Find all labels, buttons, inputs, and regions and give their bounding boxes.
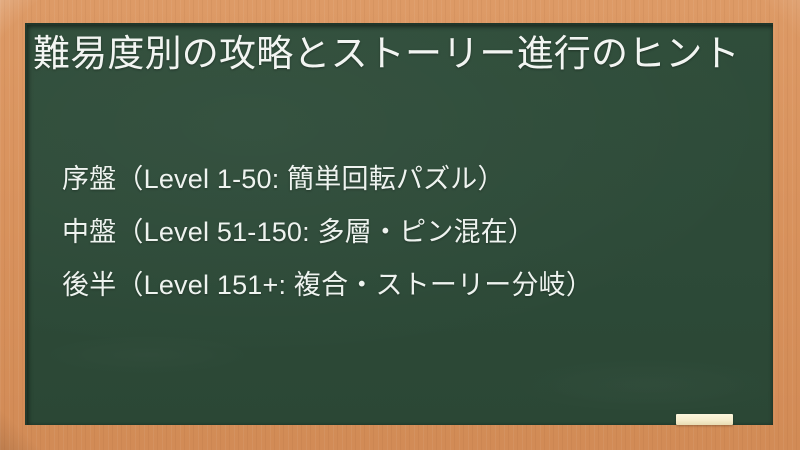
page-title: 難易度別の攻略とストーリー進行のヒント (33, 31, 753, 76)
chalk-stick (676, 414, 733, 425)
difficulty-stage-list: 序盤（Level 1-50: 簡単回転パズル） 中盤（Level 51-150:… (62, 153, 762, 312)
chalkboard-surface: 難易度別の攻略とストーリー進行のヒント 序盤（Level 1-50: 簡単回転パ… (25, 23, 773, 425)
list-item-late-stage: 後半（Level 151+: 複合・ストーリー分岐） (62, 259, 762, 312)
list-item-mid-stage: 中盤（Level 51-150: 多層・ピン混在） (62, 206, 762, 259)
blackboard-frame: 難易度別の攻略とストーリー進行のヒント 序盤（Level 1-50: 簡単回転パ… (0, 0, 800, 450)
list-item-early-stage: 序盤（Level 1-50: 簡単回転パズル） (62, 153, 762, 206)
